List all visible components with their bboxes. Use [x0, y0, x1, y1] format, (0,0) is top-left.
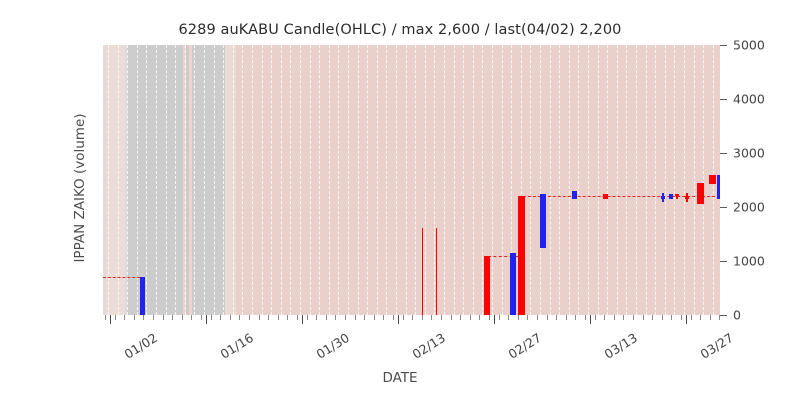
- x-axis-minor-tick: [537, 315, 538, 320]
- grid-line: [502, 45, 503, 315]
- grid-line: [262, 45, 263, 315]
- grid-line: [492, 45, 493, 315]
- grid-line: [444, 45, 445, 315]
- y-axis-tick-label: 4000: [733, 92, 765, 107]
- candle-body: [484, 256, 490, 315]
- x-axis-minor-tick: [230, 315, 231, 320]
- x-axis-minor-tick: [287, 315, 288, 320]
- y-axis-tick-label: 2000: [733, 200, 765, 215]
- x-axis-minor-tick: [278, 315, 279, 320]
- close-price-line: [103, 277, 140, 278]
- y-axis-tick: [720, 207, 727, 208]
- grid-line: [300, 45, 301, 315]
- x-axis-minor-tick: [595, 315, 596, 320]
- grid-line: [694, 45, 695, 315]
- grid-line: [214, 45, 215, 315]
- x-axis-minor-tick: [508, 315, 509, 320]
- y-axis-tick: [720, 99, 727, 100]
- grid-line: [319, 45, 320, 315]
- grid-line: [396, 45, 397, 315]
- candle-wick: [422, 228, 423, 315]
- grid-line: [540, 45, 541, 315]
- x-axis-tick-label: 02/27: [505, 330, 544, 362]
- background-band: [225, 45, 236, 315]
- x-axis-minor-tick: [479, 315, 480, 320]
- x-axis-minor-tick: [681, 315, 682, 320]
- plot-area: [103, 45, 720, 315]
- grid-line: [348, 45, 349, 315]
- x-axis-minor-tick: [239, 315, 240, 320]
- x-axis-tick-label: 01/02: [121, 330, 160, 362]
- grid-line: [406, 45, 407, 315]
- y-axis-tick: [720, 315, 727, 316]
- close-price-line: [518, 196, 720, 197]
- grid-line: [156, 45, 157, 315]
- y-axis-tick-label: 1000: [733, 254, 765, 269]
- candle-body: [540, 194, 546, 248]
- grid-line: [223, 45, 224, 315]
- background-band: [192, 45, 226, 315]
- x-axis-tick-label: 02/13: [409, 330, 448, 362]
- x-axis-tick: [206, 315, 207, 324]
- x-axis-minor-tick: [163, 315, 164, 320]
- x-axis-minor-tick: [643, 315, 644, 320]
- grid-line: [636, 45, 637, 315]
- y-axis-tick-label: 0: [733, 308, 741, 323]
- x-axis-minor-tick: [652, 315, 653, 320]
- candle-body: [140, 277, 145, 315]
- grid-line: [367, 45, 368, 315]
- grid-line: [233, 45, 234, 315]
- x-axis-minor-tick: [710, 315, 711, 320]
- grid-line: [655, 45, 656, 315]
- candle-body: [675, 194, 679, 197]
- y-axis-tick-label: 3000: [733, 146, 765, 161]
- x-axis-minor-tick: [412, 315, 413, 320]
- candle-body: [510, 253, 516, 315]
- background-band: [236, 45, 721, 315]
- grid-line: [607, 45, 608, 315]
- grid-line: [703, 45, 704, 315]
- x-axis-minor-tick: [470, 315, 471, 320]
- x-axis-tick: [110, 315, 111, 324]
- x-axis-tick-label: 03/13: [601, 330, 640, 362]
- x-axis-tick: [302, 315, 303, 324]
- grid-line: [118, 45, 119, 315]
- x-axis-minor-tick: [556, 315, 557, 320]
- x-axis-tick: [590, 315, 591, 324]
- candle-body: [572, 191, 577, 199]
- candle-body: [661, 196, 665, 199]
- grid-line: [626, 45, 627, 315]
- x-axis-minor-tick: [326, 315, 327, 320]
- grid-line: [454, 45, 455, 315]
- x-axis-minor-tick: [307, 315, 308, 320]
- grid-line: [204, 45, 205, 315]
- grid-line: [684, 45, 685, 315]
- x-axis-minor-tick: [249, 315, 250, 320]
- candle-body: [603, 194, 608, 199]
- grid-line: [358, 45, 359, 315]
- grid-line: [338, 45, 339, 315]
- grid-line: [646, 45, 647, 315]
- candle-body: [717, 175, 720, 199]
- x-axis-minor-tick: [460, 315, 461, 320]
- x-axis-minor-tick: [316, 315, 317, 320]
- y-axis-tick: [720, 45, 727, 46]
- grid-line: [166, 45, 167, 315]
- grid-line: [559, 45, 560, 315]
- grid-line: [425, 45, 426, 315]
- background-band: [127, 45, 183, 315]
- x-axis-tick: [398, 315, 399, 324]
- grid-line: [377, 45, 378, 315]
- y-axis-tick-label: 5000: [733, 38, 765, 53]
- candle-body: [697, 183, 704, 205]
- x-axis-tick: [494, 315, 495, 324]
- x-axis-minor-tick: [345, 315, 346, 320]
- grid-line: [242, 45, 243, 315]
- x-axis-minor-tick: [105, 315, 106, 320]
- x-axis-minor-tick: [115, 315, 116, 320]
- grid-line: [175, 45, 176, 315]
- x-axis-minor-tick: [671, 315, 672, 320]
- x-axis-minor-tick: [393, 315, 394, 320]
- x-axis-minor-tick: [374, 315, 375, 320]
- x-axis-minor-tick: [355, 315, 356, 320]
- x-axis-minor-tick: [403, 315, 404, 320]
- grid-line: [281, 45, 282, 315]
- x-axis-minor-tick: [518, 315, 519, 320]
- grid-line: [674, 45, 675, 315]
- x-axis-minor-tick: [201, 315, 202, 320]
- x-axis-minor-tick: [604, 315, 605, 320]
- x-axis-minor-tick: [662, 315, 663, 320]
- x-axis-minor-tick: [623, 315, 624, 320]
- grid-line: [127, 45, 128, 315]
- x-axis-minor-tick: [585, 315, 586, 320]
- x-axis-minor-tick: [719, 315, 720, 320]
- grid-line: [569, 45, 570, 315]
- grid-line: [290, 45, 291, 315]
- x-axis-tick-label: 01/16: [217, 330, 256, 362]
- x-axis-minor-tick: [451, 315, 452, 320]
- chart-title: 6289 auKABU Candle(OHLC) / max 2,600 / l…: [0, 22, 800, 38]
- grid-line: [329, 45, 330, 315]
- grid-line: [617, 45, 618, 315]
- grid-line: [473, 45, 474, 315]
- y-axis-tick: [720, 153, 727, 154]
- x-axis-minor-tick: [422, 315, 423, 320]
- x-axis-minor-tick: [575, 315, 576, 320]
- y-axis-title: IPPAN ZAIKO (volume): [72, 48, 88, 328]
- x-axis-minor-tick: [527, 315, 528, 320]
- grid-line: [530, 45, 531, 315]
- x-axis-minor-tick: [700, 315, 701, 320]
- x-axis-minor-tick: [191, 315, 192, 320]
- grid-line: [252, 45, 253, 315]
- x-axis-minor-tick: [134, 315, 135, 320]
- grid-line: [146, 45, 147, 315]
- x-axis-minor-tick: [297, 315, 298, 320]
- grid-line: [598, 45, 599, 315]
- grid-line: [386, 45, 387, 315]
- x-axis-minor-tick: [259, 315, 260, 320]
- x-axis-minor-tick: [211, 315, 212, 320]
- candle-body: [669, 194, 673, 199]
- grid-line: [588, 45, 589, 315]
- grid-line: [415, 45, 416, 315]
- candle-body: [685, 196, 689, 199]
- x-axis-minor-tick: [441, 315, 442, 320]
- x-axis-minor-tick: [383, 315, 384, 320]
- x-axis-minor-tick: [124, 315, 125, 320]
- x-axis-minor-tick: [364, 315, 365, 320]
- x-axis-minor-tick: [182, 315, 183, 320]
- grid-line: [194, 45, 195, 315]
- x-axis-minor-tick: [633, 315, 634, 320]
- grid-line: [310, 45, 311, 315]
- x-axis-minor-tick: [172, 315, 173, 320]
- x-axis-minor-tick: [268, 315, 269, 320]
- y-axis-tick: [720, 261, 727, 262]
- candle-wick: [436, 228, 437, 315]
- x-axis-minor-tick: [431, 315, 432, 320]
- grid-line: [137, 45, 138, 315]
- grid-line: [665, 45, 666, 315]
- x-axis-minor-tick: [499, 315, 500, 320]
- x-axis-minor-tick: [335, 315, 336, 320]
- x-axis-minor-tick: [547, 315, 548, 320]
- candle-body: [709, 175, 716, 184]
- grid-line: [108, 45, 109, 315]
- grid-line: [185, 45, 186, 315]
- grid-line: [463, 45, 464, 315]
- x-axis-minor-tick: [143, 315, 144, 320]
- x-axis-minor-tick: [153, 315, 154, 320]
- x-axis-minor-tick: [614, 315, 615, 320]
- grid-line: [271, 45, 272, 315]
- x-axis-tick-label: 01/30: [313, 330, 352, 362]
- x-axis-title: DATE: [0, 370, 800, 386]
- x-axis-tick-label: 03/27: [697, 330, 736, 362]
- x-axis-minor-tick: [489, 315, 490, 320]
- grid-line: [578, 45, 579, 315]
- x-axis-minor-tick: [566, 315, 567, 320]
- chart-root: 6289 auKABU Candle(OHLC) / max 2,600 / l…: [0, 0, 800, 400]
- grid-line: [550, 45, 551, 315]
- x-axis-minor-tick: [691, 315, 692, 320]
- candle-body: [518, 196, 525, 315]
- x-axis-minor-tick: [220, 315, 221, 320]
- x-axis-tick: [686, 315, 687, 324]
